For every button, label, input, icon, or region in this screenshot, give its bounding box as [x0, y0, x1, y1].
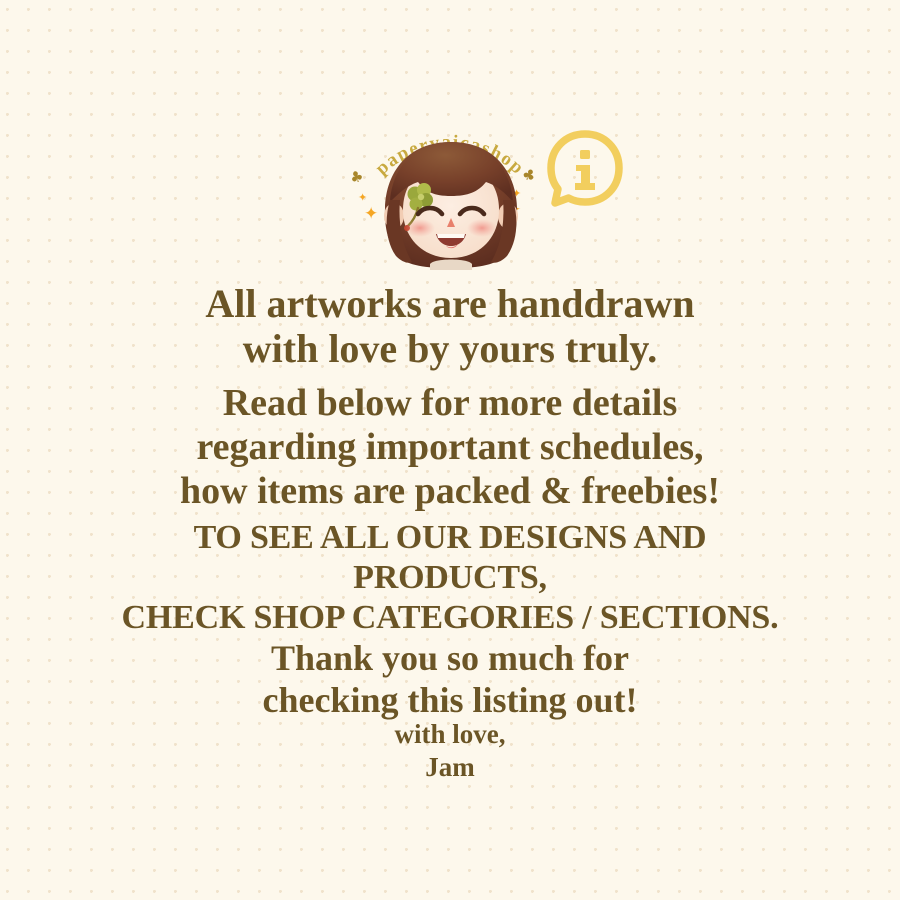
- read-below-message: Read below for more details regarding im…: [0, 381, 900, 513]
- collar: [430, 260, 472, 271]
- blush-right: [467, 219, 497, 237]
- blush-left: [405, 219, 435, 237]
- thanks-line-1: Thank you so much for: [0, 637, 900, 679]
- avatar: [368, 138, 534, 270]
- intro-line-2: with love by yours truly.: [0, 326, 900, 371]
- teeth: [437, 234, 465, 238]
- clover-icon: ♣: [348, 168, 366, 187]
- shop-logo[interactable]: papervaicashop ♣ ♣ ✦ ✦ ✦ ✦: [344, 112, 556, 277]
- info-icon[interactable]: [546, 129, 624, 209]
- thanks-line-2: checking this listing out!: [0, 679, 900, 721]
- designs-line-1: TO SEE ALL OUR DESIGNS AND: [0, 518, 900, 558]
- header: papervaicashop ♣ ♣ ✦ ✦ ✦ ✦: [0, 112, 900, 277]
- read-line-3: how items are packed & freebies!: [0, 469, 900, 513]
- designs-line-3: CHECK SHOP CATEGORIES / SECTIONS.: [0, 598, 900, 638]
- signature-line-2: Jam: [0, 751, 900, 784]
- read-line-2: regarding important schedules,: [0, 425, 900, 469]
- signature-line-1: with love,: [0, 718, 900, 751]
- designs-callout: TO SEE ALL OUR DESIGNS AND PRODUCTS, CHE…: [0, 518, 900, 638]
- intro-line-1: All artworks are handdrawn: [0, 281, 900, 326]
- signature: with love, Jam: [0, 718, 900, 784]
- read-line-1: Read below for more details: [0, 381, 900, 425]
- sparkle-icon: ✦: [358, 192, 367, 203]
- thank-you-message: Thank you so much for checking this list…: [0, 637, 900, 721]
- shop-info-card: papervaicashop ♣ ♣ ✦ ✦ ✦ ✦: [0, 0, 900, 900]
- intro-message: All artworks are handdrawn with love by …: [0, 281, 900, 371]
- designs-line-2: PRODUCTS,: [0, 558, 900, 598]
